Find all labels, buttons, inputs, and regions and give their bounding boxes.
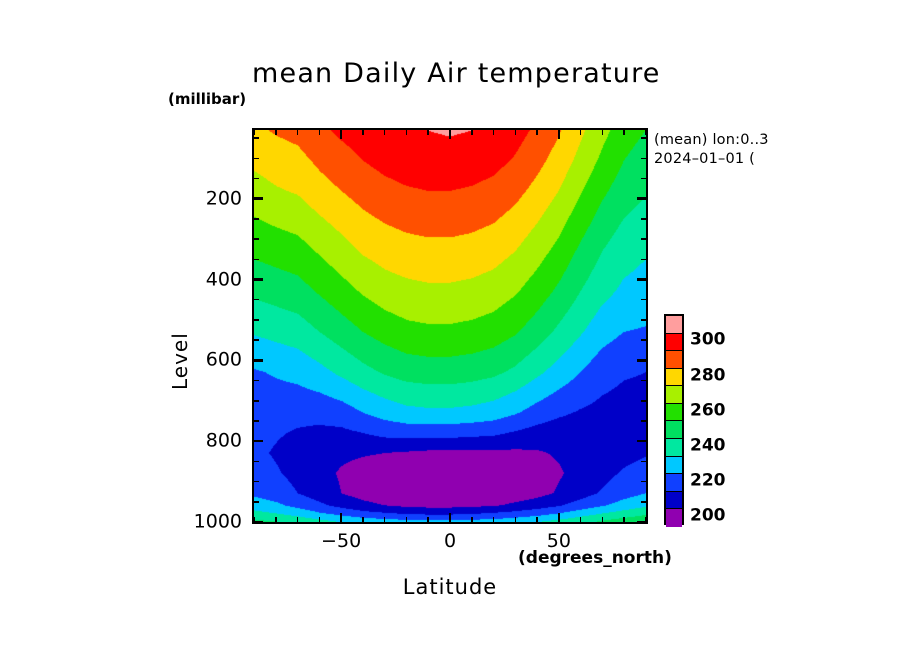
ytick-750 [254,420,259,422]
xtick--60 [319,517,321,522]
colorbar-cell-11 [666,509,682,527]
ytick-right-500 [641,319,646,321]
colorbar-label-220: 220 [690,471,726,491]
colorbar-label-300: 300 [690,330,726,350]
ytick-right-400 [637,278,646,281]
ytick-350 [254,259,259,261]
xtick-10 [471,517,473,522]
colorbar-cell-8 [666,457,682,475]
xtick-top-80 [623,130,625,135]
xtick--30 [384,517,386,522]
xtick-top-90 [645,130,647,135]
xtick-top-60 [580,130,582,135]
colorbar-cell-5 [666,404,682,422]
xtick-30 [515,517,517,522]
xtick-label-0: 0 [444,530,456,552]
ytick-100 [254,158,259,160]
ytick-label-800: 800 [158,430,242,452]
ytick-1000 [254,521,263,524]
annotation-line-1: (mean) lon:0..3 [654,131,786,150]
colorbar-cell-1 [666,334,682,352]
xtick-top-20 [493,130,495,135]
ytick-900 [254,481,259,483]
ytick-right-150 [641,178,646,180]
xaxis-units-label: (degrees_north) [518,548,672,568]
xtick-top-40 [536,130,538,135]
page-title: mean Daily Air temperature [252,58,648,89]
colorbar-cell-10 [666,492,682,510]
xtick-top--20 [406,130,408,135]
xtick-50 [558,513,561,522]
xtick-70 [602,517,604,522]
colorbar-cell-2 [666,351,682,369]
ytick-450 [254,299,259,301]
ytick-right-900 [641,481,646,483]
xtick-top-70 [602,130,604,135]
ytick-right-700 [641,400,646,402]
xtick-top--80 [275,130,277,135]
colorbar-label-200: 200 [690,506,726,526]
ytick-550 [254,339,259,341]
ytick-right-200 [637,197,646,200]
yaxis-units-label: (millibar) [168,90,246,108]
colorbar-cell-0 [666,316,682,334]
ytick-right-1000 [637,521,646,524]
ytick-right-50 [641,137,646,139]
ytick-right-850 [641,461,646,463]
xtick-top--40 [362,130,364,135]
xtick-top--90 [253,130,255,135]
ytick-600 [254,359,263,362]
colorbar-label-260: 260 [690,400,726,420]
ytick-right-800 [637,440,646,443]
ytick-850 [254,461,259,463]
xtick-80 [623,517,625,522]
metadata-annotation: (mean) lon:0..3 2024–01–01 ( [654,131,786,169]
ytick-150 [254,178,259,180]
xtick--10 [427,517,429,522]
xtick-40 [536,517,538,522]
colorbar [664,314,684,525]
ytick-right-100 [641,158,646,160]
xtick-top-30 [515,130,517,135]
xtick--40 [362,517,364,522]
ytick-right-650 [641,380,646,382]
ytick-500 [254,319,259,321]
xtick-top-0 [449,130,452,139]
colorbar-cell-4 [666,386,682,404]
ytick-right-300 [641,238,646,240]
xtick-60 [580,517,582,522]
xtick-label-50: 50 [547,530,571,552]
ytick-50 [254,137,259,139]
ytick-950 [254,501,259,503]
ytick-label-1000: 1000 [158,511,242,533]
ytick-300 [254,238,259,240]
ytick-right-950 [641,501,646,503]
ytick-200 [254,197,263,200]
annotation-line-2: 2024–01–01 ( [654,150,786,169]
xtick-top--70 [297,130,299,135]
xtick-label--50: −50 [321,530,361,552]
ytick-label-400: 400 [158,268,242,290]
ytick-right-750 [641,420,646,422]
colorbar-cell-3 [666,369,682,387]
colorbar-cell-6 [666,421,682,439]
xtick--20 [406,517,408,522]
colorbar-label-240: 240 [690,435,726,455]
ytick-250 [254,218,259,220]
ytick-650 [254,380,259,382]
xtick-0 [449,513,452,522]
ytick-right-600 [637,359,646,362]
xtick--70 [297,517,299,522]
xtick-top--10 [427,130,429,135]
ytick-700 [254,400,259,402]
xaxis-title: Latitude [252,575,648,599]
xtick-20 [493,517,495,522]
ytick-right-350 [641,259,646,261]
contour-plot-area [252,128,648,524]
ytick-400 [254,278,263,281]
ytick-label-200: 200 [158,187,242,209]
xtick--80 [275,517,277,522]
ytick-right-450 [641,299,646,301]
xtick-top--30 [384,130,386,135]
ytick-right-250 [641,218,646,220]
xtick-top-10 [471,130,473,135]
ytick-right-550 [641,339,646,341]
colorbar-label-280: 280 [690,365,726,385]
xtick-top--60 [319,130,321,135]
colorbar-cell-9 [666,474,682,492]
xtick-top-50 [558,130,561,139]
colorbar-cell-7 [666,439,682,457]
contour-fill-canvas [254,130,646,522]
xtick-top--50 [340,130,343,139]
xtick--50 [340,513,343,522]
ytick-label-600: 600 [158,349,242,371]
ytick-800 [254,440,263,443]
